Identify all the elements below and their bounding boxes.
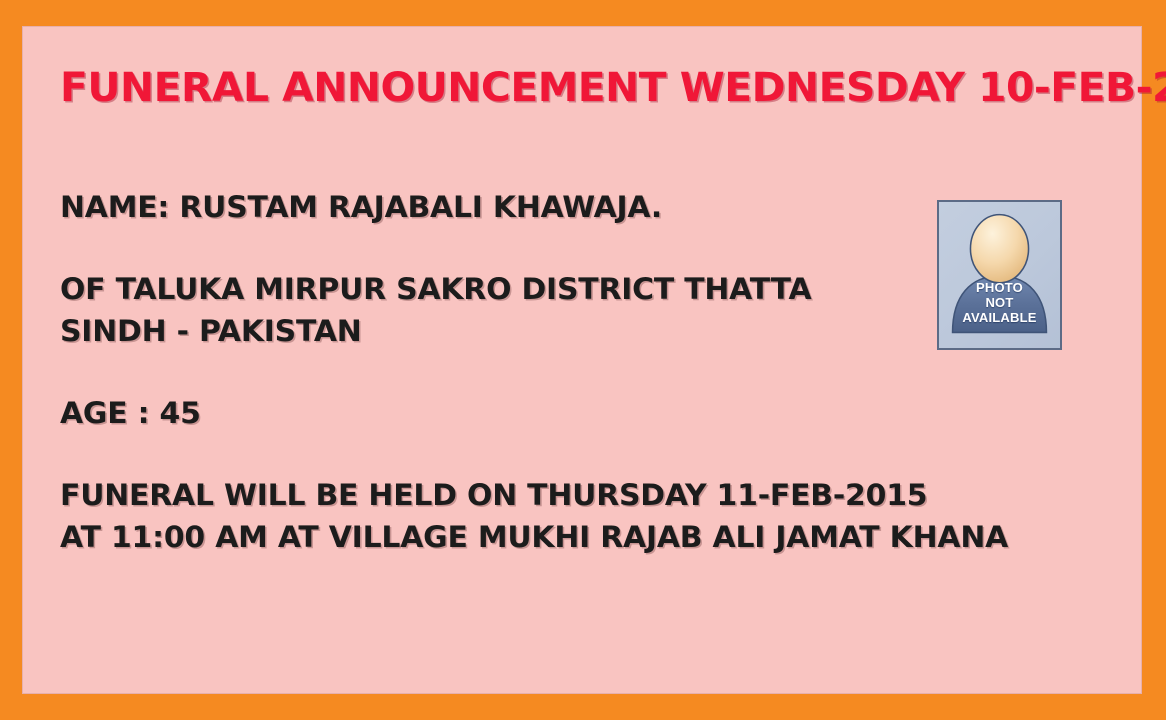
funeral-announcement-poster: FUNERAL ANNOUNCEMENT WEDNESDAY 10-FEB-20… xyxy=(0,0,1166,720)
announcement-body: NAME: RUSTAM RAJABALI KHAWAJA. OF TALUKA… xyxy=(60,186,960,558)
age-group: AGE : 45 xyxy=(60,392,960,434)
age-line: AGE : 45 xyxy=(60,392,987,434)
funeral-line-2: AT 11:00 AM AT VILLAGE MUKHI RAJAB ALI J… xyxy=(60,516,987,558)
announcement-title: FUNERAL ANNOUNCEMENT WEDNESDAY 10-FEB-20… xyxy=(60,64,1111,112)
photo-placeholder: PHOTO NOT AVAILABLE xyxy=(937,200,1062,350)
person-silhouette-icon xyxy=(939,202,1060,348)
name-group: NAME: RUSTAM RAJABALI KHAWAJA. xyxy=(60,186,960,228)
deceased-name-line: NAME: RUSTAM RAJABALI KHAWAJA. xyxy=(60,186,987,228)
address-group: OF TALUKA MIRPUR SAKRO DISTRICT THATTA S… xyxy=(60,268,960,352)
announcement-card: FUNERAL ANNOUNCEMENT WEDNESDAY 10-FEB-20… xyxy=(22,26,1142,694)
funeral-line-1: FUNERAL WILL BE HELD ON THURSDAY 11-FEB-… xyxy=(60,474,987,516)
funeral-details-group: FUNERAL WILL BE HELD ON THURSDAY 11-FEB-… xyxy=(60,474,960,558)
address-line-2: SINDH - PAKISTAN xyxy=(60,310,987,352)
address-line-1: OF TALUKA MIRPUR SAKRO DISTRICT THATTA xyxy=(60,268,987,310)
